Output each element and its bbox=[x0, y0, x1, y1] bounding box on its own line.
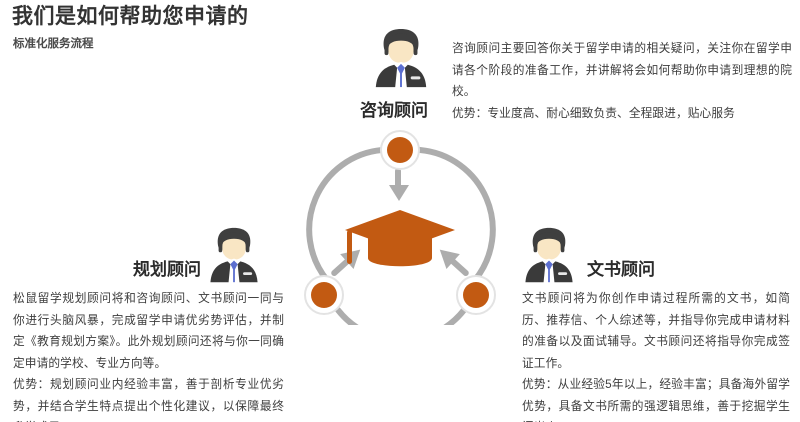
advisor-label-documents: 文书顾问 bbox=[587, 259, 655, 281]
advisor-advantage-documents: 优势：从业经验5年以上，经验丰富；具备海外留学优势，具备文书所需的强逻辑思维，善… bbox=[522, 374, 790, 422]
flow-node-top bbox=[381, 131, 419, 169]
advisor-label-planning: 规划顾问 bbox=[133, 259, 201, 281]
advisor-body-planning: 松鼠留学规划顾问将和咨询顾问、文书顾问一同与你进行头脑风暴，完成留学申请优劣势评… bbox=[13, 288, 284, 374]
advisor-label-consulting: 咨询顾问 bbox=[360, 100, 428, 122]
circular-flow-diagram bbox=[290, 125, 510, 325]
flow-node-left bbox=[305, 276, 343, 314]
advisor-advantage-planning: 优势：规划顾问业内经验丰富，善于剖析专业优劣势，并结合学生特点提出个性化建议，以… bbox=[13, 374, 284, 422]
service-process-infographic: 我们是如何帮助您申请的 标准化服务流程 bbox=[0, 0, 800, 422]
advisor-advantage-consulting: 优势：专业度高、耐心细致负责、全程跟进，贴心服务 bbox=[452, 103, 792, 125]
flow-node-right bbox=[457, 276, 495, 314]
advisor-avatar-icon-documents bbox=[520, 226, 578, 284]
graduation-cap-icon bbox=[345, 210, 455, 266]
advisor-description-planning: 松鼠留学规划顾问将和咨询顾问、文书顾问一同与你进行头脑风暴，完成留学申请优劣势评… bbox=[13, 288, 284, 422]
advisor-avatar-icon-planning bbox=[205, 226, 263, 284]
advisor-body-documents: 文书顾问将为你创作申请过程所需的文书，如简历、推荐信、个人综述等，并指导你完成申… bbox=[522, 288, 790, 374]
advisor-description-consulting: 咨询顾问主要回答你关于留学申请的相关疑问，关注你在留学申请各个阶段的准备工作，并… bbox=[452, 38, 792, 124]
advisor-description-documents: 文书顾问将为你创作申请过程所需的文书，如简历、推荐信、个人综述等，并指导你完成申… bbox=[522, 288, 790, 422]
advisor-body-consulting: 咨询顾问主要回答你关于留学申请的相关疑问，关注你在留学申请各个阶段的准备工作，并… bbox=[452, 38, 792, 103]
page-title: 我们是如何帮助您申请的 bbox=[12, 2, 249, 32]
advisor-avatar-icon-consulting bbox=[370, 27, 432, 89]
page-subtitle: 标准化服务流程 bbox=[13, 36, 94, 52]
